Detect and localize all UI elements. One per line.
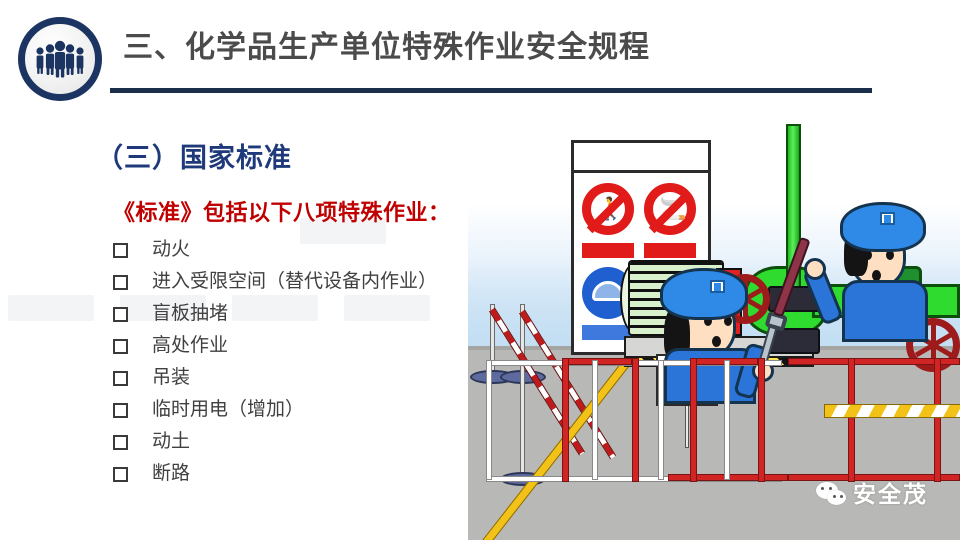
worker-hand	[804, 258, 826, 280]
right-floor-hazard-band	[824, 404, 960, 418]
list-item: 进入受限空间（替代设备内作业）	[113, 266, 463, 298]
guard-rail-post-red	[848, 358, 855, 482]
guard-rail-post-red	[632, 358, 639, 482]
bullet-square-icon	[113, 339, 128, 354]
wechat-icon	[816, 482, 846, 506]
slide-header: 三、化学品生产单位特殊作业安全规程	[0, 0, 960, 100]
list-item: 断路	[113, 458, 463, 490]
guard-rail-post-white	[592, 360, 598, 480]
bullet-square-icon	[113, 371, 128, 386]
no-entry-person-icon: 🚶	[582, 183, 634, 235]
bullet-square-icon	[113, 467, 128, 482]
section-title: （三）国家标准	[96, 136, 292, 175]
slide: 三、化学品生产单位特殊作业安全规程 （三）国家标准 《标准》包括以下八项特殊作业…	[0, 0, 960, 540]
list-item: 盲板抽堵	[113, 298, 463, 330]
prohibition-label-bar	[582, 243, 634, 258]
special-operations-list: 动火 进入受限空间（替代设备内作业） 盲板抽堵 高处作业 吊装 临时用电（增加）…	[113, 234, 463, 490]
watermark-text: 安全茂	[853, 482, 928, 506]
worker-helmet	[840, 202, 926, 252]
illustration: 🚶 🚬	[468, 108, 960, 540]
background-watermark	[8, 295, 94, 321]
guard-rail-post-red	[934, 358, 941, 482]
people-group-icon	[18, 17, 102, 101]
list-item: 动土	[113, 426, 463, 458]
list-item-label: 盲板抽堵	[152, 298, 228, 330]
helmet-badge	[710, 280, 725, 293]
list-item-label: 高处作业	[152, 330, 228, 362]
guard-rail-post-white	[724, 360, 730, 480]
header-divider	[110, 88, 872, 93]
list-item-label: 断路	[152, 458, 190, 490]
list-item-label: 动火	[152, 234, 190, 266]
list-item: 高处作业	[113, 330, 463, 362]
list-item-label: 动土	[152, 426, 190, 458]
list-item-label: 进入受限空间（替代设备内作业）	[152, 266, 437, 298]
guard-rail-post-white	[658, 360, 664, 480]
helmet-badge	[880, 212, 895, 225]
list-item: 临时用电（增加）	[113, 394, 463, 426]
wechat-watermark: 安全茂	[816, 482, 928, 506]
list-item-label: 临时用电（增加）	[152, 394, 304, 426]
prohibition-label-bar	[644, 243, 696, 258]
list-item-label: 吊装	[152, 362, 190, 394]
section-subtitle: 《标准》包括以下八项特殊作业：	[113, 195, 451, 227]
guard-rail-post-white	[486, 360, 492, 480]
bullet-square-icon	[113, 307, 128, 322]
list-item: 吊装	[113, 362, 463, 394]
bullet-square-icon	[113, 275, 128, 290]
content-column: （三）国家标准 《标准》包括以下八项特殊作业： 动火 进入受限空间（替代设备内作…	[0, 100, 470, 540]
barrier-post	[520, 360, 525, 478]
guard-rail-top-red	[564, 358, 632, 365]
bullet-square-icon	[113, 403, 128, 418]
guard-rail-post-red	[562, 358, 569, 482]
list-item: 动火	[113, 234, 463, 266]
hazard-sign-post	[685, 404, 689, 448]
board-header-strip	[574, 143, 708, 173]
worker-helmet	[660, 268, 748, 320]
worker-mouth	[712, 336, 721, 347]
guard-rail-post-red	[690, 358, 697, 482]
page-title: 三、化学品生产单位特殊作业安全规程	[123, 22, 650, 74]
guard-rail-post-red	[758, 358, 765, 482]
bullet-square-icon	[113, 243, 128, 258]
no-smoking-fire-icon: 🚬	[644, 183, 696, 235]
bullet-square-icon	[113, 435, 128, 450]
worker-body	[842, 280, 928, 342]
